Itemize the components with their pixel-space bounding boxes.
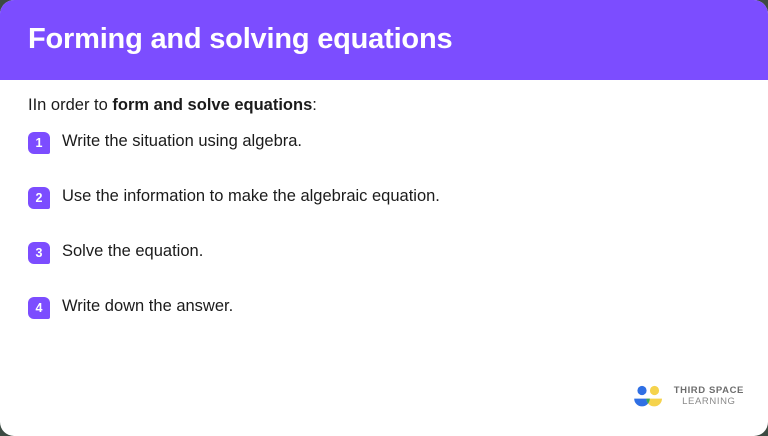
intro-text: IIn order to form and solve equations: <box>28 94 740 117</box>
intro-bold-phrase: form and solve equations <box>112 96 312 114</box>
step-number-badge: 4 <box>28 297 50 319</box>
step-number-badge: 3 <box>28 242 50 264</box>
card-body: IIn order to form and solve equations: 1… <box>0 94 768 349</box>
third-space-learning-logo-icon <box>631 384 665 410</box>
list-item: 1 Write the situation using algebra. <box>28 129 740 184</box>
intro-suffix: : <box>312 96 317 114</box>
steps-list: 1 Write the situation using algebra. 2 U… <box>28 129 740 349</box>
brand-logo: THIRD SPACE LEARNING <box>631 384 744 410</box>
step-number-badge: 2 <box>28 187 50 209</box>
list-item: 3 Solve the equation. <box>28 239 740 294</box>
step-number-badge: 1 <box>28 132 50 154</box>
step-text: Solve the equation. <box>62 239 203 265</box>
brand-wordmark: THIRD SPACE LEARNING <box>674 386 744 408</box>
list-item: 2 Use the information to make the algebr… <box>28 184 740 239</box>
lesson-card: Forming and solving equations IIn order … <box>0 0 768 436</box>
step-text: Use the information to make the algebrai… <box>62 184 440 210</box>
card-header: Forming and solving equations <box>0 0 768 80</box>
list-item: 4 Write down the answer. <box>28 294 740 349</box>
step-text: Write down the answer. <box>62 294 233 320</box>
step-text: Write the situation using algebra. <box>62 129 302 155</box>
brand-name-line2: LEARNING <box>682 397 735 408</box>
intro-prefix: IIn order to <box>28 96 112 114</box>
page-title: Forming and solving equations <box>28 24 452 56</box>
